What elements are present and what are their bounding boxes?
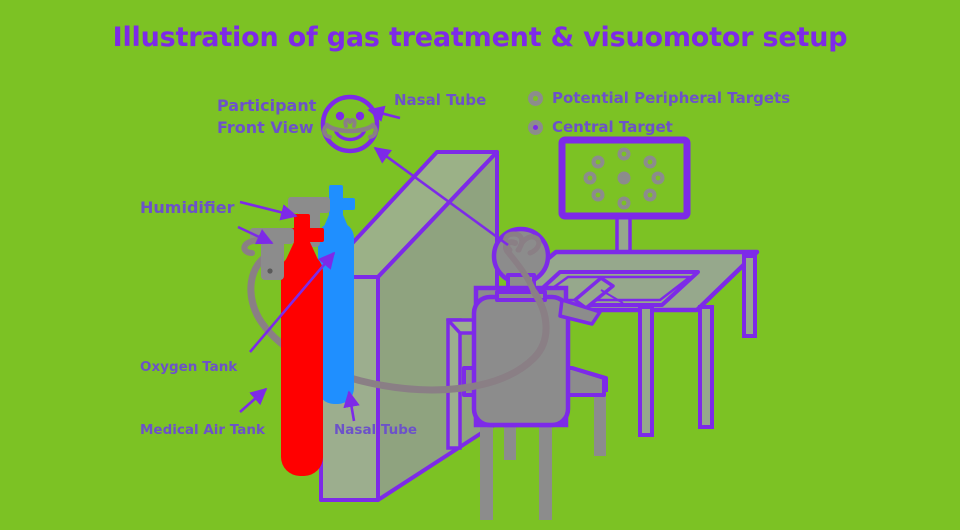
humidifier-red-hose-loop <box>244 240 262 253</box>
chair-leg-front-right <box>539 420 552 520</box>
desk-leg-front-left <box>640 307 652 435</box>
oxygen-tank-valve-vertical <box>294 214 310 242</box>
face-nasal-cannula-prong-right <box>350 120 355 126</box>
label-medical-air-tank: Medical Air Tank <box>140 423 265 439</box>
setup-illustration <box>0 0 960 530</box>
peripheral-target-hole <box>656 176 661 181</box>
desk-leg-front-right <box>700 307 712 427</box>
face-nasal-cannula-band <box>327 125 373 131</box>
peripheral-target-hole <box>622 201 627 206</box>
humidifier-red-body <box>261 236 284 280</box>
central-target-icon <box>528 120 543 135</box>
medical-air-tank-valve-vertical <box>329 185 343 211</box>
arrow-humidifier-upper <box>240 202 296 216</box>
peripheral-target-hole <box>648 160 653 165</box>
legend-label-peripheral: Potential Peripheral Targets <box>552 89 790 107</box>
face-eye-left <box>336 112 344 120</box>
peripheral-target-hole <box>588 176 593 181</box>
label-nasal-tube-top: Nasal Tube <box>394 92 486 110</box>
peripheral-target-hole <box>596 193 601 198</box>
chair-leg-front-left <box>480 420 493 520</box>
medical-air-tank-outlet <box>325 255 339 400</box>
partition-support-post <box>448 320 460 448</box>
face-eye-right <box>356 112 364 120</box>
legend-item-central-target: Central Target <box>528 118 673 136</box>
participant-face <box>323 97 377 151</box>
oxygen-tank-body <box>281 253 323 476</box>
peripheral-target-hole <box>648 193 653 198</box>
peripheral-target-icon <box>528 91 543 106</box>
label-humidifier: Humidifier <box>140 199 234 218</box>
label-nasal-tube-bottom: Nasal Tube <box>334 423 417 439</box>
central-target-hole <box>622 176 627 181</box>
desk-leg-back-right <box>744 256 755 336</box>
participant-torso-rounded <box>474 297 568 425</box>
label-participant-front-view-line2: Front View <box>217 119 314 138</box>
legend-item-peripheral-targets: Potential Peripheral Targets <box>528 89 790 107</box>
label-participant-front-view-line1: Participant <box>217 97 316 116</box>
illustration-canvas: Illustration of gas treatment & visuomot… <box>0 0 960 530</box>
arrow-medical-air-tank <box>240 389 266 412</box>
peripheral-target-hole <box>596 160 601 165</box>
humidifier-red-port <box>267 268 272 273</box>
peripheral-target-hole <box>622 152 627 157</box>
legend-label-central: Central Target <box>552 118 673 136</box>
oxygen-tank <box>280 214 324 476</box>
label-oxygen-tank: Oxygen Tank <box>140 360 237 376</box>
monitor-screen-targets <box>584 148 665 210</box>
monitor <box>562 140 687 253</box>
